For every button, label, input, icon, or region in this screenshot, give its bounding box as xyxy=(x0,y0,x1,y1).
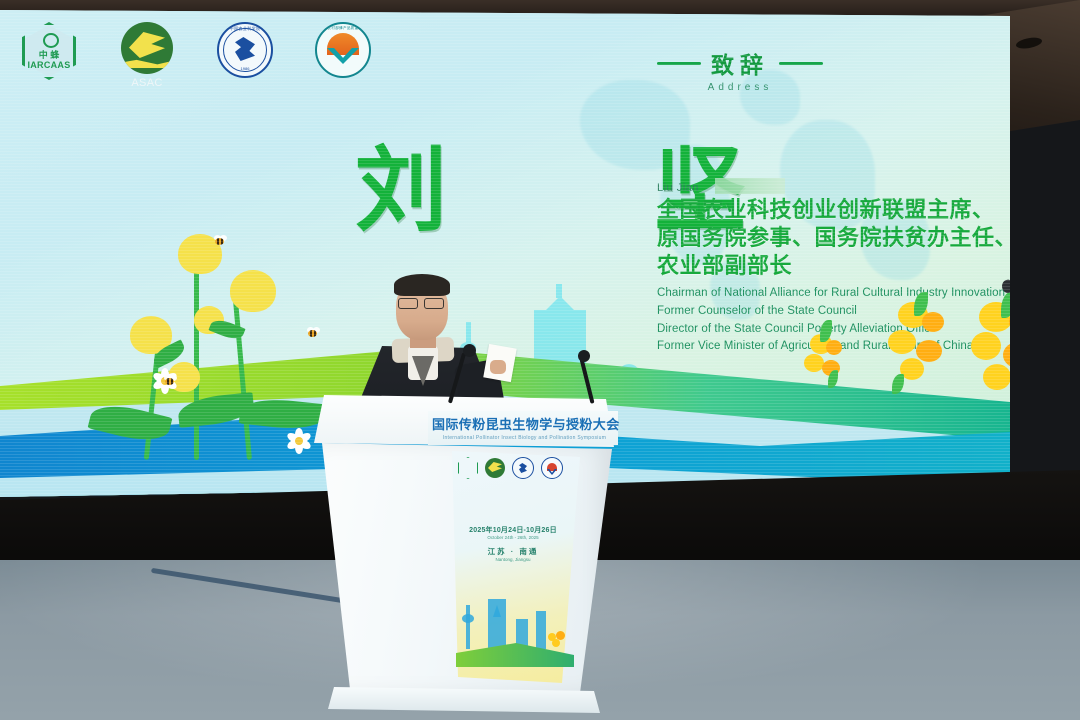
podium-place-cn: 江苏 · 南通 xyxy=(452,546,574,557)
podium-title-en: International Pollinator Insect Biology … xyxy=(432,435,617,441)
podium-meta: 2025年10月24日-10月26日 October 24th - 26th, … xyxy=(452,525,574,562)
organization-logo-row: 中 蜂 IARCAAS ASAC 中国农业科学院 1986 农业农村部蜂产品质量… xyxy=(18,22,374,89)
podium: 国际传粉昆虫生物学与授粉大会 International Pollinator … xyxy=(300,395,630,720)
podium-title-cn: 国际传粉昆虫生物学与授粉大会 xyxy=(432,414,617,433)
iarcaas-logo: 中 蜂 IARCAAS xyxy=(18,22,80,80)
podium-fourth-logo xyxy=(541,457,563,479)
podium-logo-row xyxy=(458,457,576,479)
podium-title: 国际传粉昆虫生物学与授粉大会 International Pollinator … xyxy=(432,414,617,441)
seal-year: 1986 xyxy=(219,66,271,71)
person-hand xyxy=(490,360,506,374)
podium-date-cn: 2025年10月24日-10月26日 xyxy=(452,525,574,535)
podium-base xyxy=(328,687,600,713)
teal-logo-ring-text: 农业农村部蜂产品质量监督 xyxy=(317,26,369,31)
glasses-icon xyxy=(398,298,446,307)
blue-institute-seal: 中国农业科学院 1986 xyxy=(214,22,276,78)
asac-logo-caption: ASAC xyxy=(116,77,178,89)
podium-asac-logo xyxy=(485,458,505,478)
microphone-head xyxy=(578,350,590,362)
podium-flowers xyxy=(548,631,570,647)
microphone-head xyxy=(463,344,476,357)
asac-logo: ASAC xyxy=(116,22,178,89)
podium-blue-seal xyxy=(512,457,534,479)
photo-scene: 致辞 Address 刘 坚 Liu Jian 全国农业科技创业创新联盟主席、 … xyxy=(0,0,1080,720)
seal-ring-text: 中国农业科学院 xyxy=(219,26,271,32)
person-hair xyxy=(394,274,450,296)
ceiling-spotlight xyxy=(1016,36,1042,50)
podium-iarcaas-logo xyxy=(458,457,478,479)
iarcaas-logo-abbr: IARCAAS xyxy=(22,60,76,70)
podium-place-en: Nantong, Jiangsu xyxy=(452,557,574,562)
teal-orange-logo: 农业农村部蜂产品质量监督 xyxy=(312,22,374,78)
podium-date-en: October 24th - 26th, 2025 xyxy=(452,535,574,540)
podium-city-graphic xyxy=(456,591,574,667)
